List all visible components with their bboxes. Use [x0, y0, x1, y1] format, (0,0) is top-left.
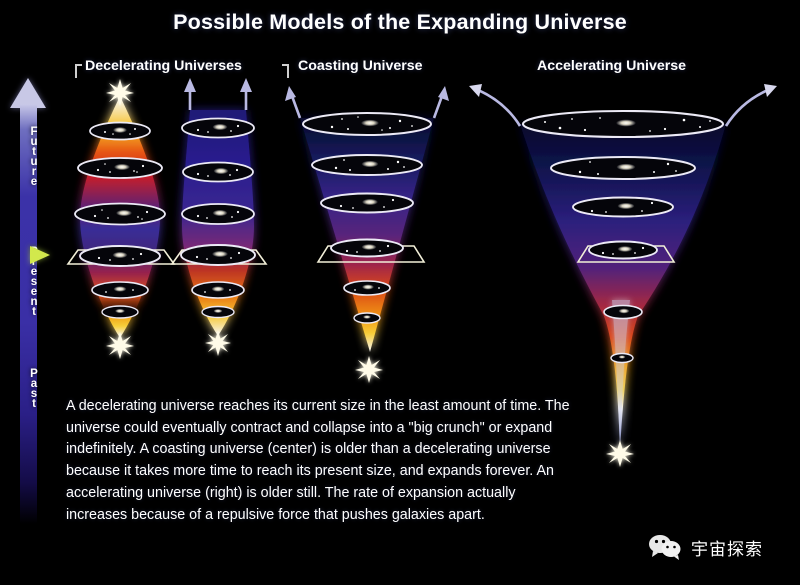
model-decelerating-closed	[68, 79, 174, 359]
wechat-icon	[648, 534, 682, 561]
starburst-bottom-2	[205, 330, 231, 356]
model-coasting	[285, 86, 449, 383]
starburst-top-1	[106, 79, 134, 106]
caption-text: A decelerating universe reaches its curr…	[66, 396, 571, 526]
watermark: 宇宙探索	[648, 534, 763, 561]
diagram-canvas: Possible Models of the Expanding Univers…	[0, 0, 800, 585]
growth-arrows-2	[190, 86, 246, 110]
watermark-text: 宇宙探索	[691, 535, 763, 560]
starburst-bottom-3	[355, 356, 383, 383]
model-decelerating-open	[172, 78, 266, 356]
starburst-bottom-4	[606, 440, 634, 467]
starburst-bottom-1	[106, 332, 134, 359]
